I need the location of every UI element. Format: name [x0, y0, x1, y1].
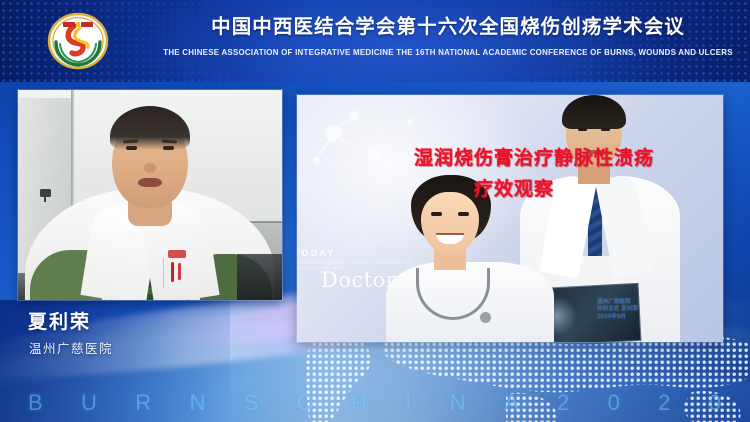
- speaker-name-label: 夏利荣: [28, 307, 91, 334]
- slide-foreground-layer: TODAY PROFESSIONAL MEDICAL HEALTH CARE T…: [297, 95, 723, 342]
- association-emblem-logo: [40, 12, 116, 70]
- door-lock-icon: [40, 189, 51, 197]
- foreground-shadow-right: [237, 254, 282, 300]
- speaker-eye-left: [126, 146, 137, 150]
- speaker-pen-1: [171, 262, 174, 282]
- stethoscope-chestpiece-icon: [480, 312, 491, 323]
- slide-male-doctor-eye-left: [578, 128, 587, 131]
- slide-female-doctor-face: [421, 192, 479, 254]
- speaker-organization-label: 温州广慈医院: [29, 338, 113, 357]
- conference-title-chinese: 中国中西医结合学会第十六次全国烧伤创疡学术会议: [150, 14, 746, 40]
- speaker-video-panel[interactable]: [18, 90, 282, 300]
- slide-male-doctor-eye-right: [601, 128, 610, 131]
- slide-female-doctor-eye-left: [431, 212, 442, 216]
- conference-title-english: THE CHINESE ASSOCIATION OF INTEGRATIVE M…: [159, 48, 737, 57]
- speaker-eye-right: [163, 146, 174, 150]
- speaker-nose: [144, 163, 156, 173]
- speaker-mouth: [138, 178, 162, 187]
- speaker-badge: [168, 250, 186, 258]
- slide-presenter-credit: 温州广慈医院 外科主任 夏利荣 2020年9月: [597, 299, 693, 321]
- conference-header-banner: 中国中西医结合学会第十六次全国烧伤创疡学术会议 THE CHINESE ASSO…: [0, 0, 750, 82]
- slide-male-doctor-hair: [562, 95, 626, 129]
- slide-male-doctor-mouth: [587, 150, 603, 154]
- speaker-pen-2: [178, 263, 181, 280]
- slide-watermark-today: TODAY: [297, 248, 336, 258]
- slide-watermark-doctor: Doctor: [321, 268, 396, 292]
- slide-female-doctor-eye-right: [458, 212, 469, 216]
- conference-broadcast-screen: 中国中西医结合学会第十六次全国烧伤创疡学术会议 THE CHINESE ASSO…: [0, 0, 750, 422]
- header-title-block: 中国中西医结合学会第十六次全国烧伤创疡学术会议 THE CHINESE ASSO…: [150, 14, 746, 57]
